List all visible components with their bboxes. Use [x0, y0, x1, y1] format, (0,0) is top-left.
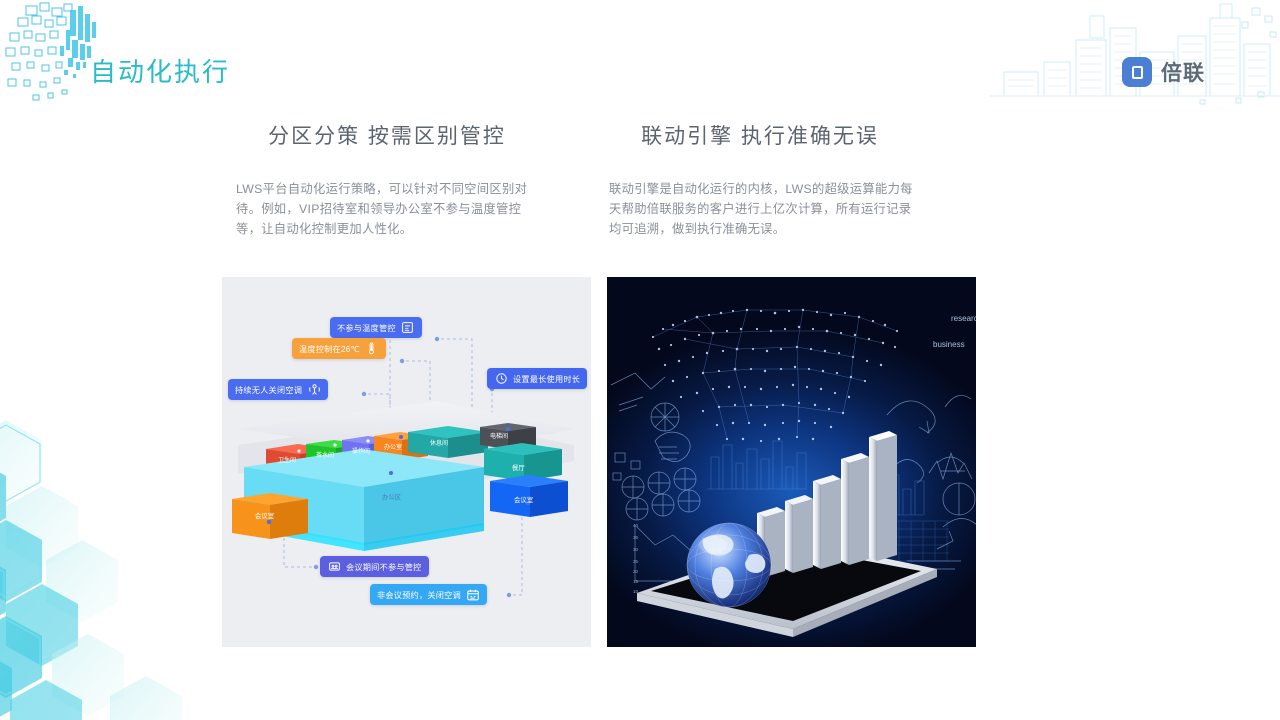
- room-label-5: 休息间: [430, 438, 448, 447]
- floorplan-diagram: 不参与温度管控 温度控制在26℃ 持续无人关: [222, 277, 591, 647]
- room-label-7: 餐厅: [512, 463, 525, 472]
- room-label-4: 办公室: [384, 442, 402, 451]
- column-right-body: 联动引擎是自动化运行的内核，LWS的超级运算能力每天帮助倍联服务的客户进行上亿次…: [585, 180, 935, 240]
- skyline-svg: [990, 0, 1280, 110]
- room-label-1: 卫生间: [278, 455, 296, 464]
- svg-text:15: 15: [633, 579, 639, 584]
- axis-tick-labels: 403530 252015 10: [633, 523, 639, 594]
- sketch-annotations-left: [611, 373, 700, 581]
- room-label-3: 操作间: [352, 446, 370, 455]
- svg-text:35: 35: [633, 535, 639, 540]
- column-left: 分区分策 按需区别管控 LWS平台自动化运行策略，可以针对不同空间区别对待。例如…: [212, 120, 562, 240]
- column-right: 联动引擎 执行准确无误 联动引擎是自动化运行的内核，LWS的超级运算能力每天帮助…: [585, 120, 935, 240]
- room-label-8: 会议室: [514, 495, 533, 504]
- svg-text:30: 30: [633, 547, 639, 552]
- column-left-body: LWS平台自动化运行策略，可以针对不同空间区别对待。例如，VIP招待室和领导办公…: [212, 180, 562, 240]
- slide-root: 自动化执行 倍联 分区分策 按需区别管控 LWS平台自动化运行策略，可以针对不同…: [0, 0, 1280, 720]
- bar-chart-3d: [757, 431, 897, 577]
- room-block-7: [484, 443, 562, 481]
- brand-logo: 倍联: [1122, 57, 1205, 87]
- hexagon-decoration: [0, 410, 220, 720]
- svg-text:40: 40: [633, 523, 639, 528]
- svg-text:20: 20: [633, 569, 639, 574]
- globe: [687, 523, 771, 607]
- svg-text:25: 25: [633, 559, 639, 564]
- brand-name: 倍联: [1161, 57, 1205, 87]
- sketch-label-business: business: [933, 340, 965, 349]
- sketch-word-labels: research business: [933, 314, 976, 349]
- column-left-heading: 分区分策 按需区别管控: [212, 120, 562, 150]
- world-map-dots: [652, 309, 898, 442]
- page-title: 自动化执行: [90, 52, 230, 89]
- tech-visual-panel: 403530 252015 10 research business: [607, 277, 976, 647]
- tech-visual-svg: 403530 252015 10 research business: [607, 277, 976, 647]
- sketch-label-research: research: [951, 314, 976, 323]
- skyline-decoration: [990, 0, 1280, 110]
- sketch-annotations-right: [887, 395, 976, 569]
- room-label-10: 会议室: [255, 511, 274, 520]
- hexagon-svg: [0, 410, 220, 720]
- floorplan-panel: 不参与温度管控 温度控制在26℃ 持续无人关: [222, 277, 591, 647]
- column-right-heading: 联动引擎 执行准确无误: [585, 120, 935, 150]
- room-label-6: 电梯间: [490, 431, 508, 440]
- brand-mark-icon: [1122, 57, 1152, 87]
- room-label-9: 办公区: [382, 492, 401, 501]
- room-label-2: 茶水间: [316, 450, 334, 459]
